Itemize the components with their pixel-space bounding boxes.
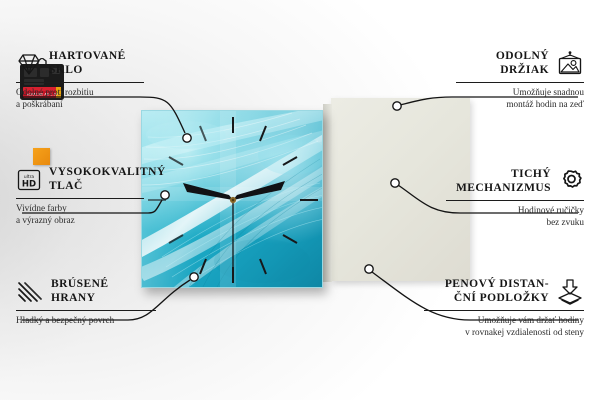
feature-description: Hladký a bezpečný povrch bbox=[16, 315, 156, 327]
diamond-icon bbox=[16, 52, 42, 76]
wire-dot-mechanism bbox=[391, 179, 399, 187]
feature-silent-mechanism: TICHÝ MECHANIZMUS Hodinové ručičky bez z… bbox=[446, 168, 584, 228]
feature-header: PENOVÝ DISTAN- ČNÍ PODLOŽKY bbox=[424, 278, 584, 305]
feature-high-quality-print: ultra HD VYSOKOKVALITNÝ TLAČ Vivídne far… bbox=[16, 166, 144, 226]
svg-text:HD: HD bbox=[22, 179, 36, 189]
feature-header: TICHÝ MECHANIZMUS bbox=[446, 168, 584, 195]
infographic-stage: ALKALINE AA 1.5V bbox=[0, 0, 600, 400]
feature-title: ODOLNÝ DRŽIAK bbox=[496, 50, 549, 77]
feature-description: Vivídne farby a výrazný obraz bbox=[16, 203, 144, 226]
feature-tempered-glass: HARTOVANÉ SKLO Odolné proti rozbitiu a p… bbox=[16, 50, 144, 110]
divider bbox=[424, 310, 584, 311]
feature-description: Odolné proti rozbitiu a poškrábaní bbox=[16, 87, 144, 110]
wire-dot-edges bbox=[190, 273, 198, 281]
feature-title: PENOVÝ DISTAN- ČNÍ PODLOŽKY bbox=[445, 278, 549, 305]
feature-description: Umožňuje snadnou montáž hodin na zeď bbox=[456, 87, 584, 110]
divider bbox=[16, 310, 156, 311]
arrow-onto-layers-icon bbox=[556, 279, 584, 305]
feature-header: ODOLNÝ DRŽIAK bbox=[456, 50, 584, 77]
wire-dot-hanger bbox=[393, 102, 401, 110]
feature-header: BRÚSENÉ HRANY bbox=[16, 278, 156, 305]
feature-header: HARTOVANÉ SKLO bbox=[16, 50, 144, 77]
divider bbox=[456, 82, 584, 83]
feature-description: Hodinové ručičky bez zvuku bbox=[446, 205, 584, 228]
feature-foam-spacers: PENOVÝ DISTAN- ČNÍ PODLOŽKY Umožňuje vám… bbox=[424, 278, 584, 338]
feature-polished-edges: BRÚSENÉ HRANY Hladký a bezpečný povrch bbox=[16, 278, 156, 327]
framed-picture-icon bbox=[556, 51, 584, 76]
divider bbox=[16, 82, 144, 83]
feature-title: TICHÝ MECHANIZMUS bbox=[456, 168, 551, 195]
ultra-hd-icon: ultra HD bbox=[16, 168, 42, 192]
feature-description: Umožňuje vám držať hodiny v rovnakej vzd… bbox=[424, 315, 584, 338]
feature-header: ultra HD VYSOKOKVALITNÝ TLAČ bbox=[16, 166, 144, 193]
divider bbox=[16, 198, 144, 199]
diagonal-lines-icon bbox=[16, 280, 44, 304]
gear-icon bbox=[558, 169, 584, 194]
feature-title: BRÚSENÉ HRANY bbox=[51, 278, 108, 305]
wire-dot-glass bbox=[183, 134, 191, 142]
wire-dot-foam bbox=[365, 265, 373, 273]
feature-title: HARTOVANÉ SKLO bbox=[49, 50, 126, 77]
feature-durable-hanger: ODOLNÝ DRŽIAK Umožňuje snadnou montáž ho… bbox=[456, 50, 584, 110]
feature-title: VYSOKOKVALITNÝ TLAČ bbox=[49, 166, 166, 193]
divider bbox=[446, 200, 584, 201]
